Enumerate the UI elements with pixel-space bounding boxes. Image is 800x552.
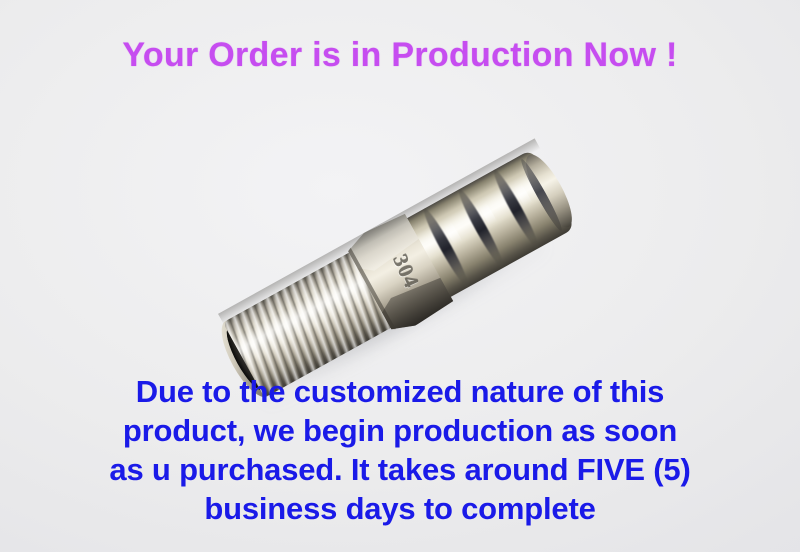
notice-line: Due to the customized nature of this [0,372,800,411]
production-notice-text: Due to the customized nature of this pro… [0,372,800,528]
notice-image-canvas: Your Order is in Production Now ! 304 [0,0,800,552]
notice-line: as u purchased. It takes around FIVE (5) [0,450,800,489]
notice-line: business days to complete [0,489,800,528]
notice-line: product, we begin production as soon [0,411,800,450]
headline-text: Your Order is in Production Now ! [0,36,800,75]
product-photo: 304 [200,130,620,380]
